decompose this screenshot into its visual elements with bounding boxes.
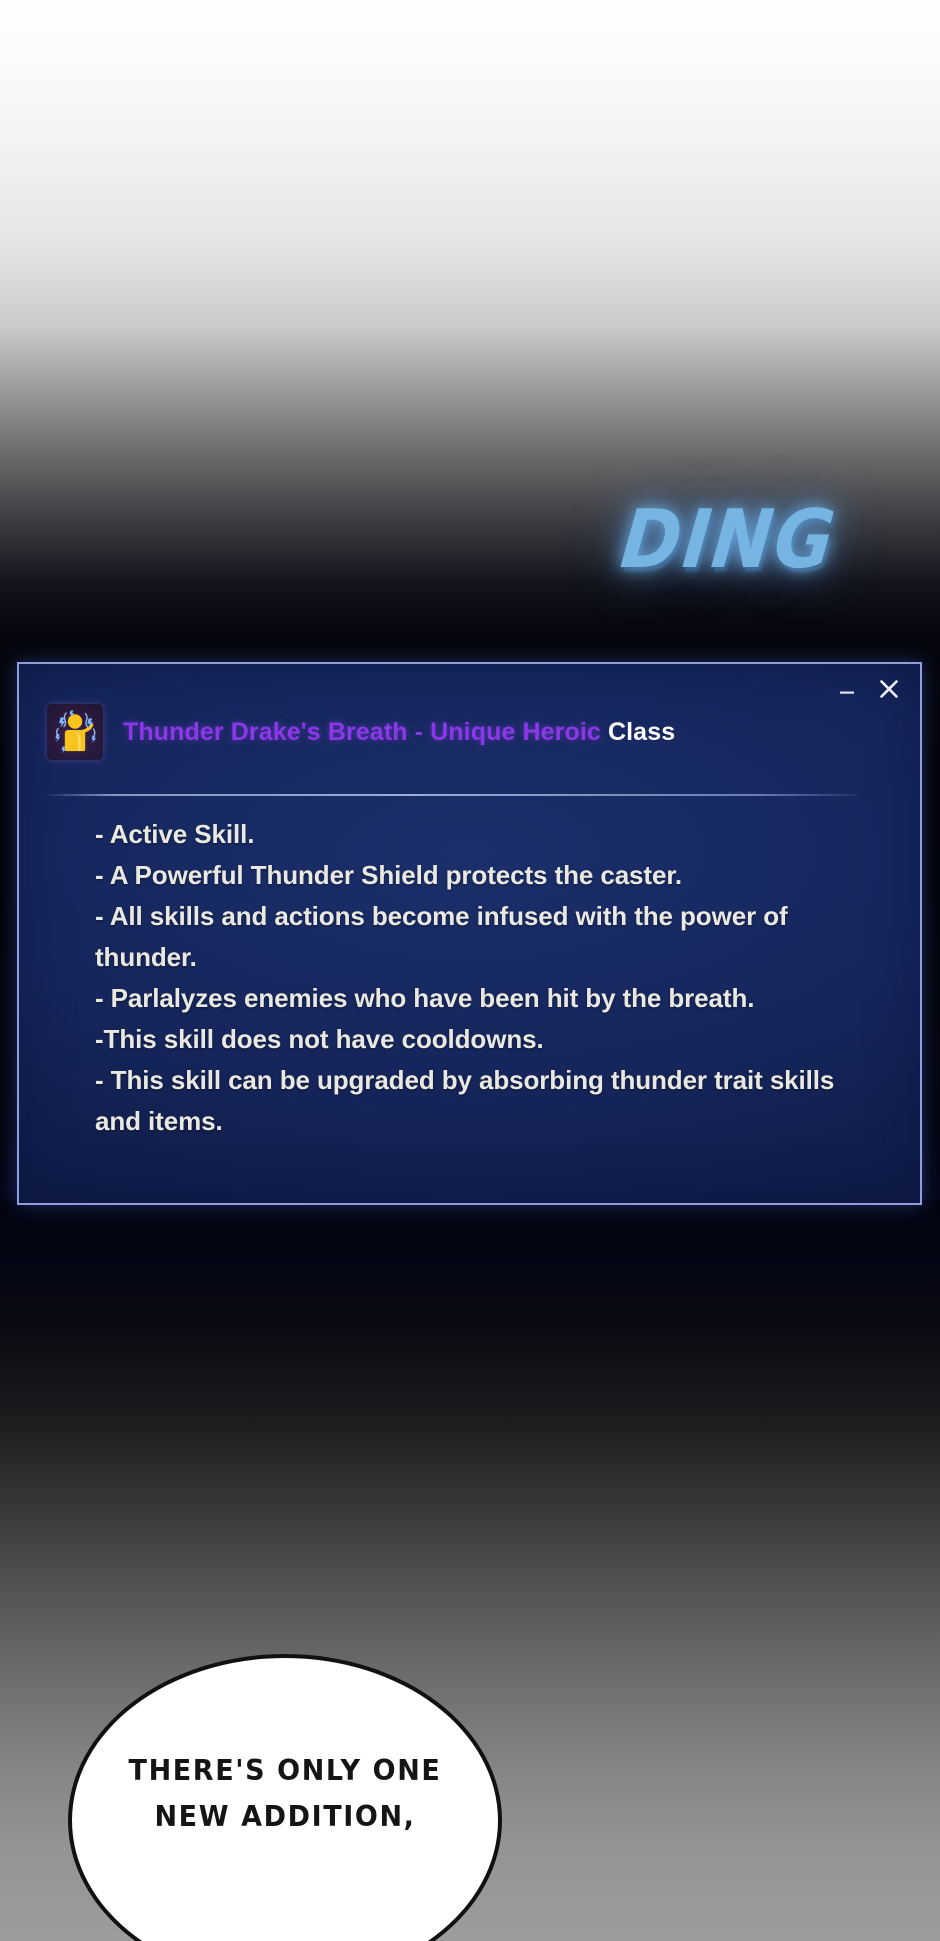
speech-bubble-text: THERE'S ONLY ONE NEW ADDITION, xyxy=(129,1748,442,1839)
description-line: - A Powerful Thunder Shield protects the… xyxy=(95,855,885,896)
ding-sound-effect: DING xyxy=(617,492,841,586)
minimize-button[interactable] xyxy=(832,674,862,704)
title-separator xyxy=(408,718,415,746)
description-line: - Active Skill. xyxy=(95,814,885,855)
title-space-2 xyxy=(601,718,608,746)
window-controls xyxy=(832,672,904,706)
title-dash: - xyxy=(415,718,423,746)
thunder-figure-icon xyxy=(47,704,103,760)
description-line: - This skill can be upgraded by absorbin… xyxy=(95,1060,885,1142)
description-line: -This skill does not have cooldowns. xyxy=(95,1019,885,1060)
description-line: - All skills and actions become infused … xyxy=(95,896,885,978)
title-divider xyxy=(47,794,857,796)
description-line: - Parlalyzes enemies who have been hit b… xyxy=(95,978,885,1019)
skill-description: - Active Skill. - A Powerful Thunder Shi… xyxy=(95,814,885,1142)
skill-name-text: Thunder Drake's Breath xyxy=(123,718,408,746)
skill-class-text: Class xyxy=(608,718,675,746)
speech-line-1: THERE'S ONLY ONE xyxy=(129,1748,442,1794)
skill-title: Thunder Drake's Breath - Unique Heroic C… xyxy=(123,718,675,747)
close-icon[interactable] xyxy=(874,674,904,704)
skill-rarity-text: Unique Heroic xyxy=(430,718,601,746)
speech-line-2: NEW ADDITION, xyxy=(129,1794,442,1840)
comic-panel-scene: DING xyxy=(0,0,940,1941)
skill-info-panel: Thunder Drake's Breath - Unique Heroic C… xyxy=(17,662,922,1205)
skill-title-row: Thunder Drake's Breath - Unique Heroic C… xyxy=(47,702,675,762)
